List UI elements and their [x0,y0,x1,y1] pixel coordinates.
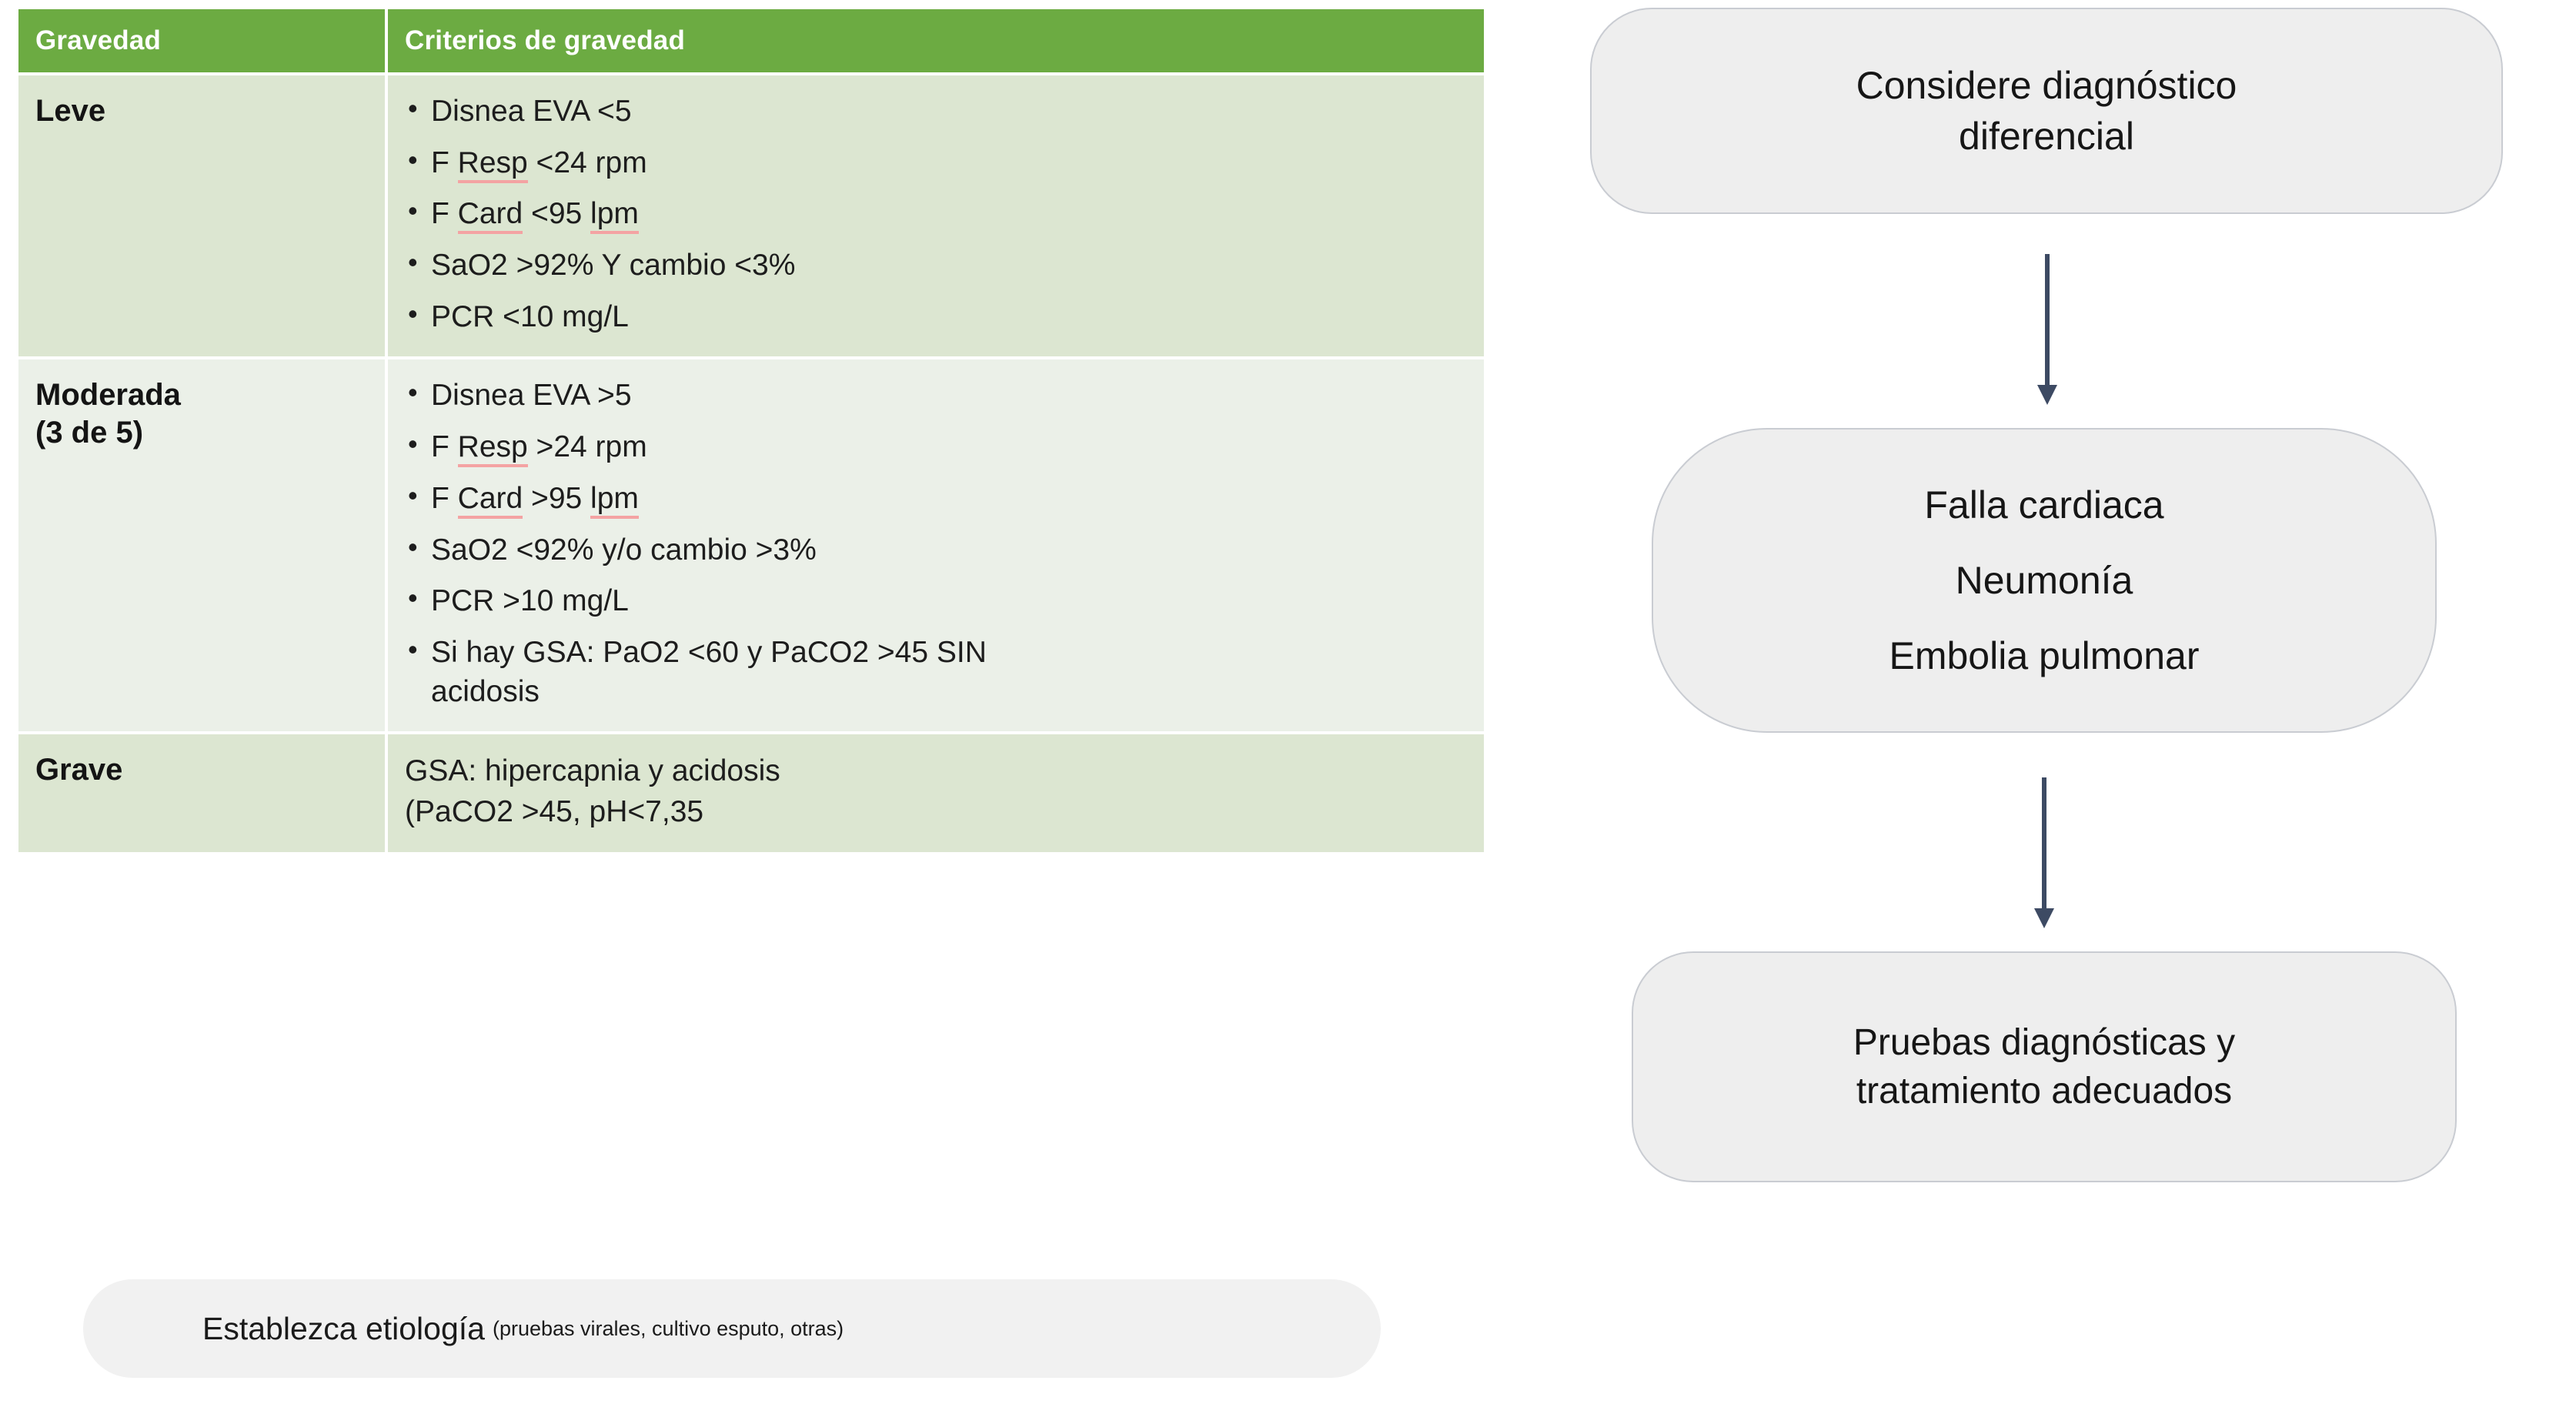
criteria-list-leve: Disnea EVA <5 F Resp <24 rpm F Card <95 … [405,92,1472,336]
list-item: F Card >95 lpm [405,480,1472,519]
list-item: Si hay GSA: PaO2 <60 y PaCO2 >45 SIN aci… [405,633,1472,711]
severity-criteria-table: Gravedad Criterios de gravedad Leve Disn… [15,6,1487,855]
spellcheck-word: Resp [458,430,528,467]
column-header-severity: Gravedad [18,9,385,72]
spellcheck-word: Card [458,197,523,234]
flow-node-line: tratamiento adecuados [1856,1067,2232,1115]
list-item: Disnea EVA <5 [405,92,1472,132]
etiology-main-text: Establezca etiología [202,1311,485,1347]
severity-label-leve: Leve [35,92,373,130]
list-item: SaO2 <92% y/o cambio >3% [405,531,1472,570]
flow-node-line: Pruebas diagnósticas y [1853,1018,2235,1067]
severity-cell-leve: Leve [18,75,385,356]
criteria-list-moderada: Disnea EVA >5 F Resp >24 rpm F Card >95 … [405,376,1472,711]
arrow-down-icon [2021,777,2067,931]
severity-cell-moderada: Moderada (3 de 5) [18,359,385,731]
flow-node-line: Neumonía [1956,555,2133,606]
severity-label-grave: Grave [35,751,373,789]
list-item: PCR >10 mg/L [405,582,1472,621]
flow-node-line: diferencial [1959,111,2134,162]
flow-node-differential-diagnosis: Considere diagnóstico diferencial [1590,8,2503,214]
table-row-leve: Leve Disnea EVA <5 F Resp <24 rpm F Card… [18,75,1484,356]
flow-node-differential-causes: Falla cardiaca Neumonía Embolia pulmonar [1652,428,2437,733]
etiology-pill: Establezca etiología (pruebas virales, c… [83,1279,1381,1378]
criteria-cell-grave: GSA: hipercapnia y acidosis (PaCO2 >45, … [388,734,1484,852]
etiology-sub-text: (pruebas virales, cultivo esputo, otras) [493,1317,844,1341]
list-item: SaO2 >92% Y cambio <3% [405,246,1472,286]
criteria-text-grave: GSA: hipercapnia y acidosis (PaCO2 >45, … [405,751,1472,832]
flow-node-line: Considere diagnóstico [1856,60,2237,111]
table-row-moderada: Moderada (3 de 5) Disnea EVA >5 F Resp >… [18,359,1484,731]
criteria-cell-moderada: Disnea EVA >5 F Resp >24 rpm F Card >95 … [388,359,1484,731]
spellcheck-word: lpm [590,482,639,519]
list-item: Disnea EVA >5 [405,376,1472,416]
arrow-down-icon [2024,254,2070,408]
list-item: F Resp <24 rpm [405,144,1472,183]
table-header-row: Gravedad Criterios de gravedad [18,9,1484,72]
column-header-criteria: Criterios de gravedad [388,9,1484,72]
flow-node-tests-and-treatment: Pruebas diagnósticas y tratamiento adecu… [1632,951,2457,1182]
table-row-grave: Grave GSA: hipercapnia y acidosis (PaCO2… [18,734,1484,852]
table-header: Gravedad Criterios de gravedad [18,9,1484,72]
spellcheck-word: Card [458,482,523,519]
flow-node-line: Falla cardiaca [1924,480,2163,530]
severity-cell-grave: Grave [18,734,385,852]
criteria-cell-leve: Disnea EVA <5 F Resp <24 rpm F Card <95 … [388,75,1484,356]
list-item: F Card <95 lpm [405,195,1472,234]
list-item: PCR <10 mg/L [405,298,1472,337]
list-item: F Resp >24 rpm [405,428,1472,467]
table-body: Leve Disnea EVA <5 F Resp <24 rpm F Card… [18,75,1484,852]
flow-node-line: Embolia pulmonar [1889,630,2200,681]
spellcheck-word: lpm [590,197,639,234]
severity-label-moderada: Moderada (3 de 5) [35,376,373,452]
spellcheck-word: Resp [458,146,528,183]
